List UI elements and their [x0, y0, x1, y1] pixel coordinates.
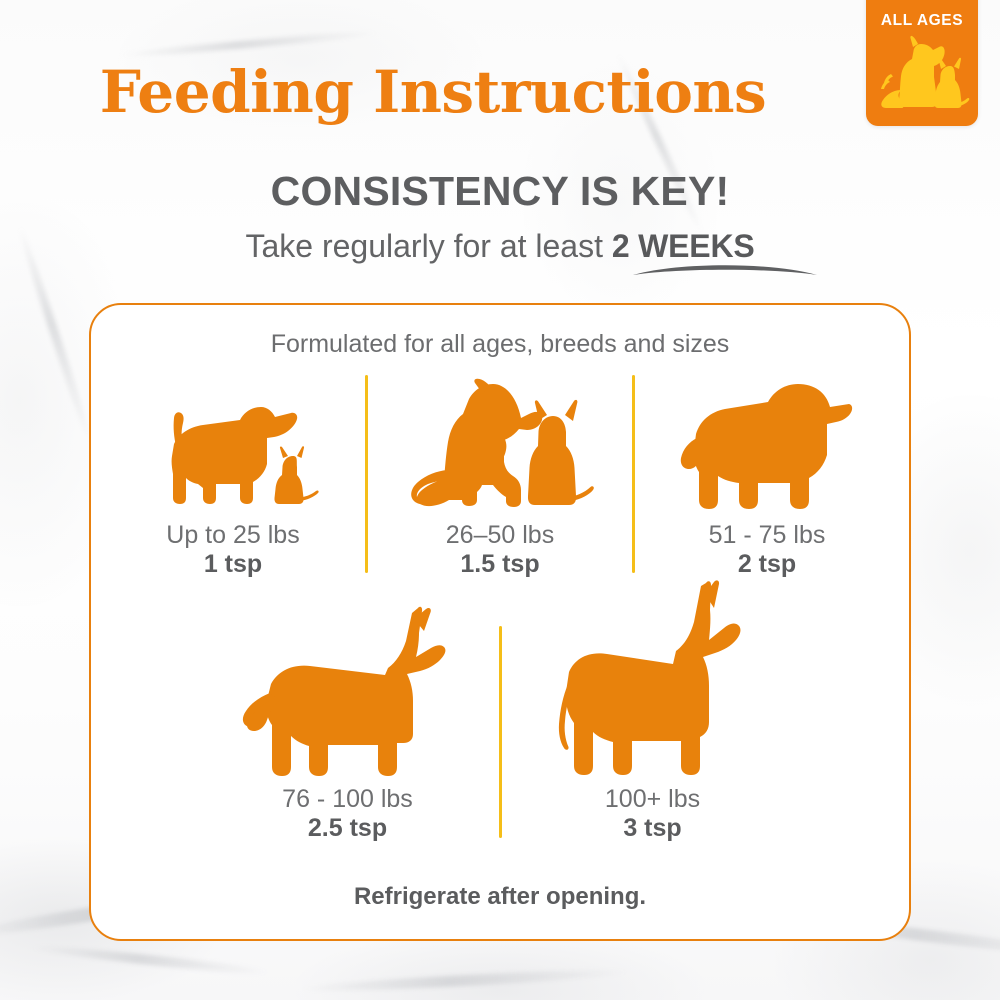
dosage-labels: 76 - 100 lbs 2.5 tsp: [282, 785, 413, 844]
dosage-cell-51-75: 51 - 75 lbs 2 tsp: [657, 376, 877, 580]
weight-label: 51 - 75 lbs: [709, 521, 826, 550]
dosage-cell-76-100: 76 - 100 lbs 2.5 tsp: [223, 605, 473, 844]
weight-label: 76 - 100 lbs: [282, 785, 413, 814]
great-dane-dog-icon: [545, 580, 760, 785]
tagline-prefix: Take regularly for at least: [245, 228, 603, 264]
refrigerate-footnote: Refrigerate after opening.: [91, 883, 909, 911]
dose-label: 1 tsp: [166, 550, 299, 579]
column-divider: [632, 375, 635, 573]
dose-label: 2 tsp: [709, 550, 826, 579]
labrador-dog-icon: [680, 376, 855, 521]
weight-label: 26–50 lbs: [446, 521, 554, 550]
dosage-labels: 26–50 lbs 1.5 tsp: [446, 521, 554, 580]
all-ages-badge: ALL AGES: [866, 0, 978, 126]
dosage-labels: 51 - 75 lbs 2 tsp: [709, 521, 826, 580]
curved-swoosh-underline-icon: [630, 258, 820, 280]
weight-label: 100+ lbs: [605, 785, 700, 814]
column-divider: [365, 375, 368, 573]
page-title: Feeding Instructions: [0, 58, 866, 126]
card-subtitle: Formulated for all ages, breeds and size…: [91, 330, 909, 359]
column-divider: [499, 626, 502, 838]
dose-label: 3 tsp: [605, 814, 700, 843]
dog-and-cat-silhouette-icon: [874, 32, 970, 112]
small-dog-and-cat-icon: [143, 396, 323, 521]
dose-label: 2.5 tsp: [282, 814, 413, 843]
dosage-cell-up-to-25: Up to 25 lbs 1 tsp: [123, 396, 343, 580]
consistency-subtitle: CONSISTENCY IS KEY!: [0, 168, 1000, 215]
dosage-row-1: Up to 25 lbs 1 tsp: [91, 375, 909, 579]
dosage-cell-26-50: 26–50 lbs 1.5 tsp: [390, 378, 610, 580]
dosage-cell-100-plus: 100+ lbs 3 tsp: [528, 580, 778, 844]
dose-label: 1.5 tsp: [446, 550, 554, 579]
dosage-card: Formulated for all ages, breeds and size…: [89, 303, 911, 941]
sitting-dog-and-cat-icon: [405, 378, 595, 521]
all-ages-badge-label: ALL AGES: [866, 12, 978, 30]
feeding-instructions-infographic: Feeding Instructions ALL AGES CONSISTEN: [0, 0, 1000, 1000]
dosage-row-2: 76 - 100 lbs 2.5 tsp 100+ lbs 3 tsp: [91, 580, 909, 844]
weight-label: Up to 25 lbs: [166, 521, 299, 550]
shepherd-dog-icon: [240, 605, 455, 785]
dosage-labels: 100+ lbs 3 tsp: [605, 785, 700, 844]
tagline: Take regularly for at least 2 WEEKS: [0, 228, 1000, 265]
dosage-labels: Up to 25 lbs 1 tsp: [166, 521, 299, 580]
